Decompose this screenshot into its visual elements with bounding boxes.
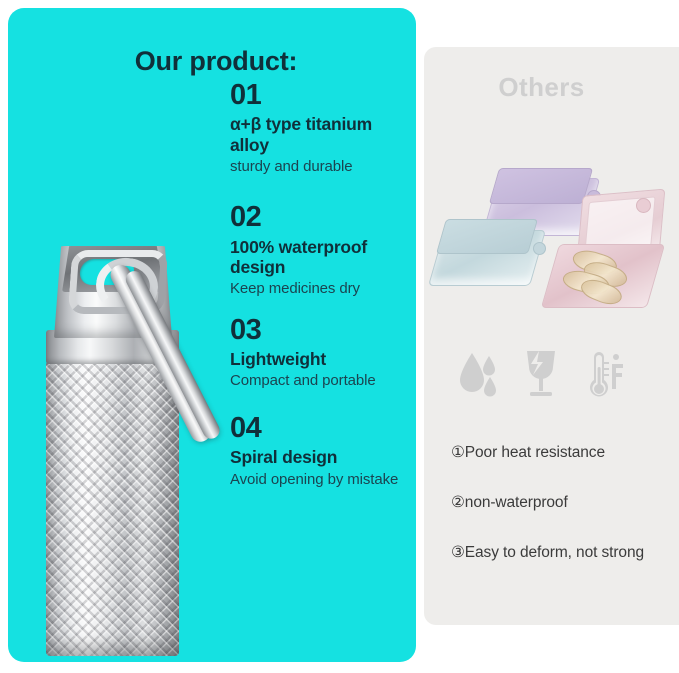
titanium-capsule-product-image bbox=[36, 244, 211, 656]
feature-headline: α+β type titanium alloy bbox=[230, 114, 410, 155]
infographic-canvas: Others bbox=[0, 0, 679, 673]
drawback-item: ③Easy to deform, not strong bbox=[451, 543, 671, 563]
feature-item: 01 α+β type titanium alloy sturdy and du… bbox=[230, 80, 410, 176]
blue-pill-box bbox=[436, 214, 544, 290]
feature-headline: Lightweight bbox=[230, 349, 410, 369]
product-panel-title: Our product: bbox=[8, 46, 416, 77]
feature-subtext: sturdy and durable bbox=[230, 157, 410, 177]
others-comparison-panel: Others bbox=[424, 47, 679, 625]
plastic-pill-boxes-image bbox=[424, 152, 679, 362]
feature-item: 03 Lightweight Compact and portable bbox=[230, 315, 410, 391]
others-panel-title: Others bbox=[424, 72, 659, 103]
our-product-panel: Our product: 01 α+β type titanium alloy … bbox=[8, 8, 416, 662]
pink-pill-box-base bbox=[541, 244, 665, 308]
blue-pill-box-lid bbox=[436, 219, 538, 254]
feature-subtext: Avoid opening by mistake bbox=[230, 470, 410, 490]
thermometer-fahrenheit-icon bbox=[581, 347, 627, 401]
feature-subtext: Keep medicines dry bbox=[230, 279, 410, 299]
blue-pill-box-clasp bbox=[533, 242, 546, 255]
feature-headline: Spiral design bbox=[230, 447, 410, 467]
feature-item: 04 Spiral design Avoid opening by mistak… bbox=[230, 413, 410, 489]
feature-number: 03 bbox=[230, 315, 410, 346]
pink-pill-box bbox=[550, 192, 668, 312]
knurled-cylinder-body bbox=[46, 359, 179, 656]
pink-pill-box-hinge bbox=[636, 198, 651, 213]
feature-list: 01 α+β type titanium alloy sturdy and du… bbox=[230, 80, 410, 505]
feature-subtext: Compact and portable bbox=[230, 371, 410, 391]
warning-icons-row bbox=[424, 347, 659, 401]
broken-glass-fragile-icon bbox=[518, 347, 564, 401]
drawbacks-list: ①Poor heat resistance ②non-waterproof ③E… bbox=[451, 443, 671, 562]
feature-number: 01 bbox=[230, 80, 410, 111]
feature-headline: 100% waterproof design bbox=[230, 237, 410, 278]
water-drops-icon bbox=[456, 347, 502, 401]
feature-number: 04 bbox=[230, 413, 410, 444]
feature-item: 02 100% waterproof design Keep medicines… bbox=[230, 202, 410, 298]
feature-number: 02 bbox=[230, 202, 410, 233]
drawback-item: ①Poor heat resistance bbox=[451, 443, 671, 463]
drawback-item: ②non-waterproof bbox=[451, 493, 671, 513]
